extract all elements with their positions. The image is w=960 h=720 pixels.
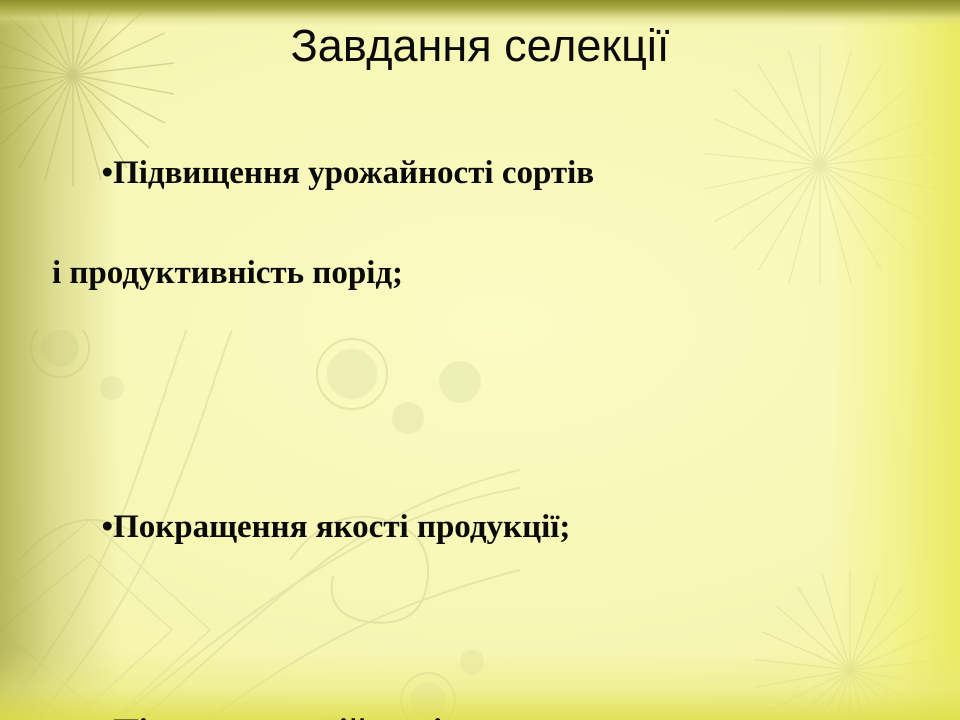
bullet-marker-icon: • <box>102 706 114 720</box>
bullet-item-1-line-2: і продуктивність порід; <box>52 248 946 298</box>
slide-title: Завдання селекції <box>0 22 960 69</box>
bullet-item-2-line-1: Покращення якості продукції; <box>113 509 570 545</box>
bullet-item-1-line-1: Підвищення урожайності сортів <box>113 155 594 191</box>
bullet-item-3: •Підвищення стійкості до захворювань; <box>52 656 946 720</box>
bullet-item-3-line-1: Підвищення стійкості до захворювань; <box>113 713 698 720</box>
bullet-marker-icon: • <box>102 502 114 552</box>
bullet-list: •Підвищення урожайності сортів і продукт… <box>52 98 946 720</box>
presentation-slide: Завдання селекції •Підвищення урожайност… <box>0 0 960 720</box>
bullet-item-1: •Підвищення урожайності сортів і продукт… <box>52 98 946 398</box>
bullet-item-2: •Покращення якості продукції; <box>52 452 946 602</box>
bullet-marker-icon: • <box>102 148 114 198</box>
